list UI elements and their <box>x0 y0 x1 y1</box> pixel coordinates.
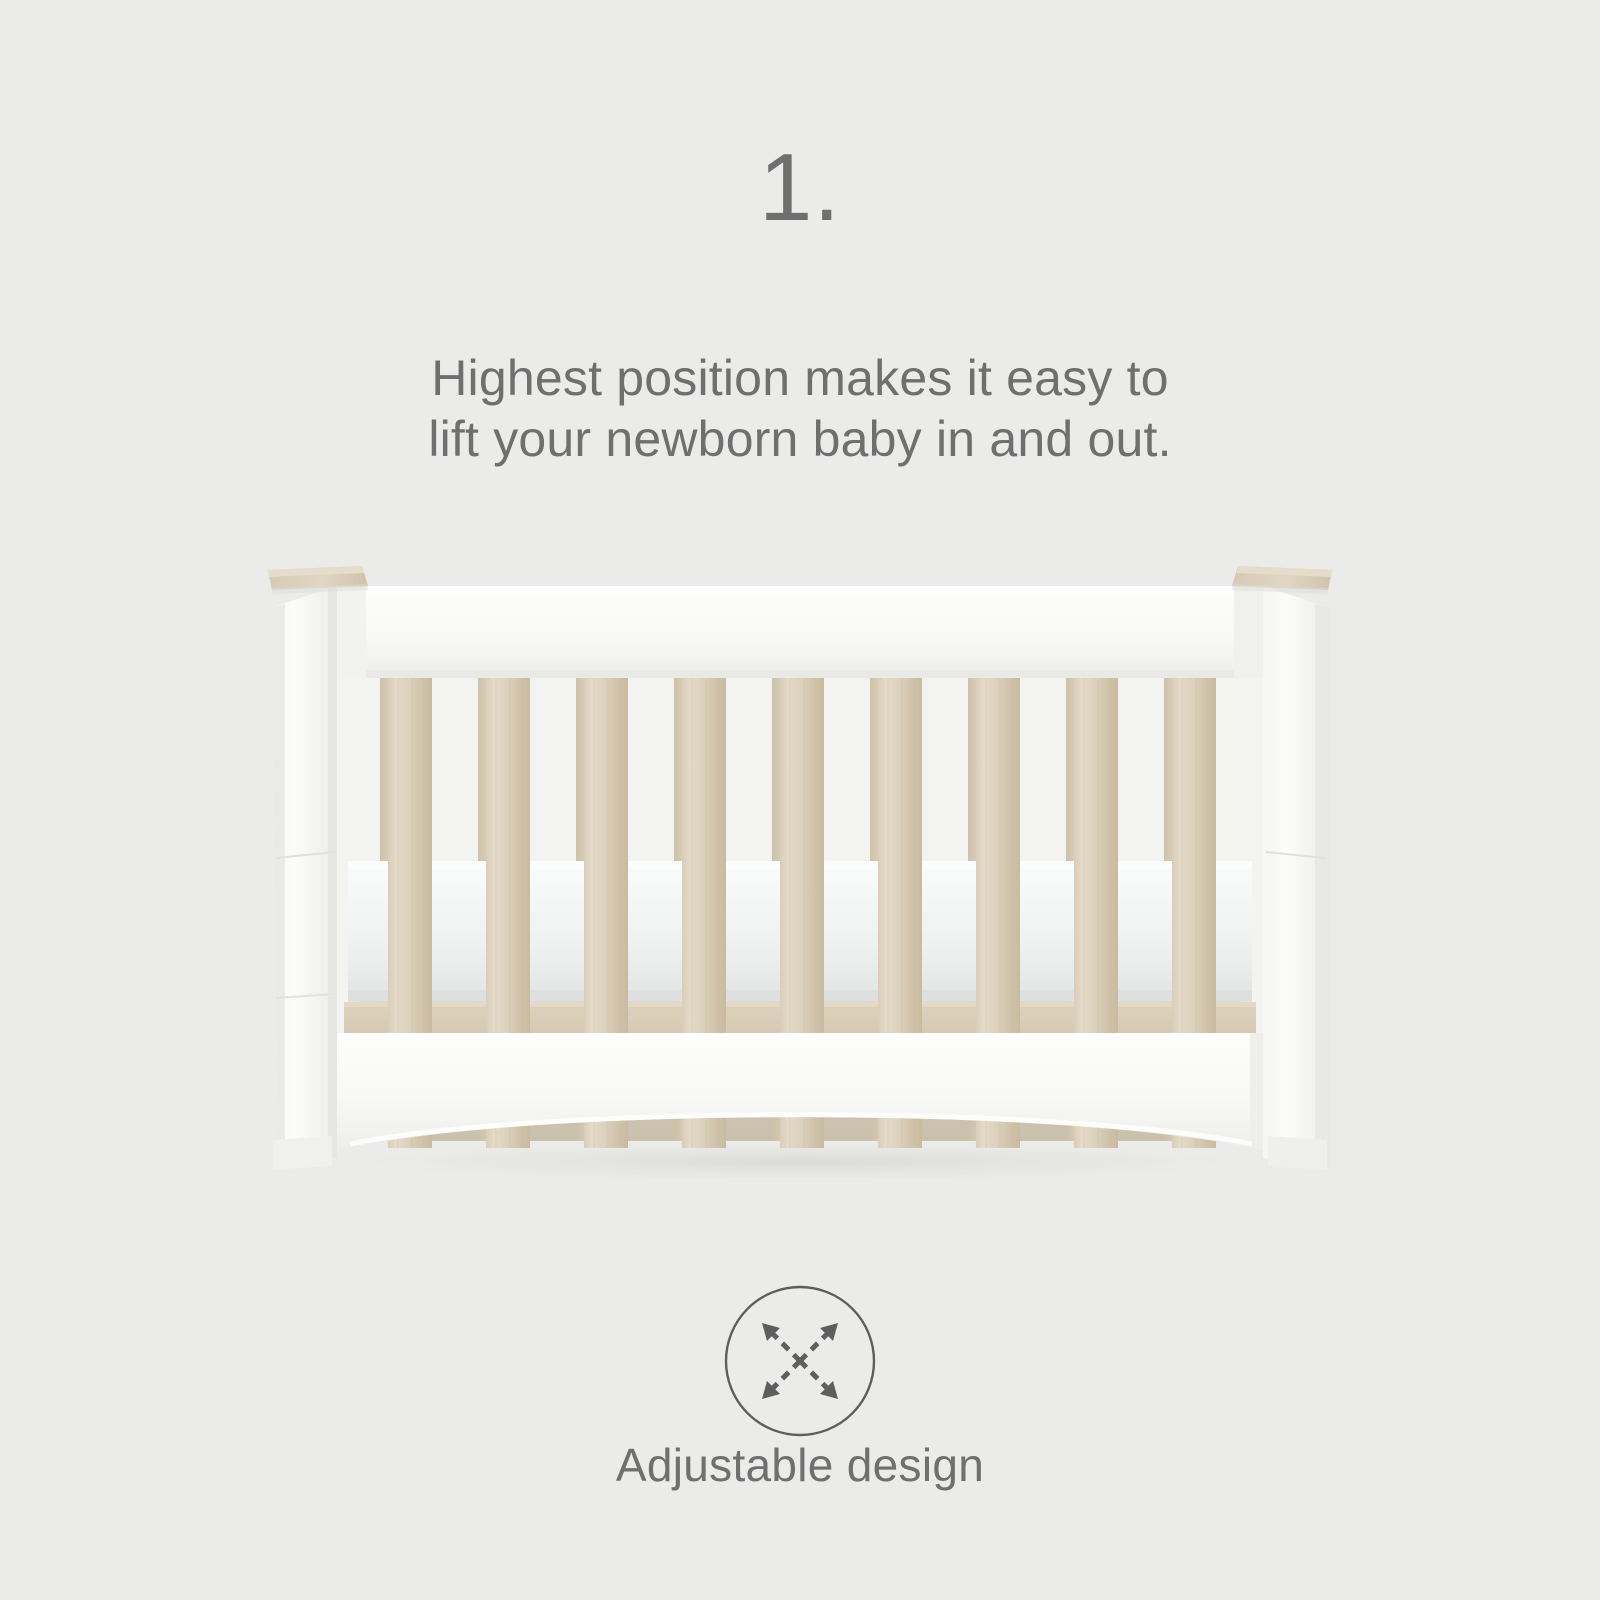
feature-caption: Adjustable design <box>0 1438 1600 1492</box>
product-feature-card: 1. Highest position makes it easy to lif… <box>0 0 1600 1600</box>
step-number: 1. <box>0 140 1600 236</box>
headline: Highest position makes it easy to lift y… <box>0 348 1600 470</box>
product-image-cot-bed <box>240 528 1360 1178</box>
headline-line-1: Highest position makes it easy to <box>0 348 1600 409</box>
headline-line-2: lift your newborn baby in and out. <box>0 409 1600 470</box>
expand-arrows-icon <box>722 1283 878 1439</box>
